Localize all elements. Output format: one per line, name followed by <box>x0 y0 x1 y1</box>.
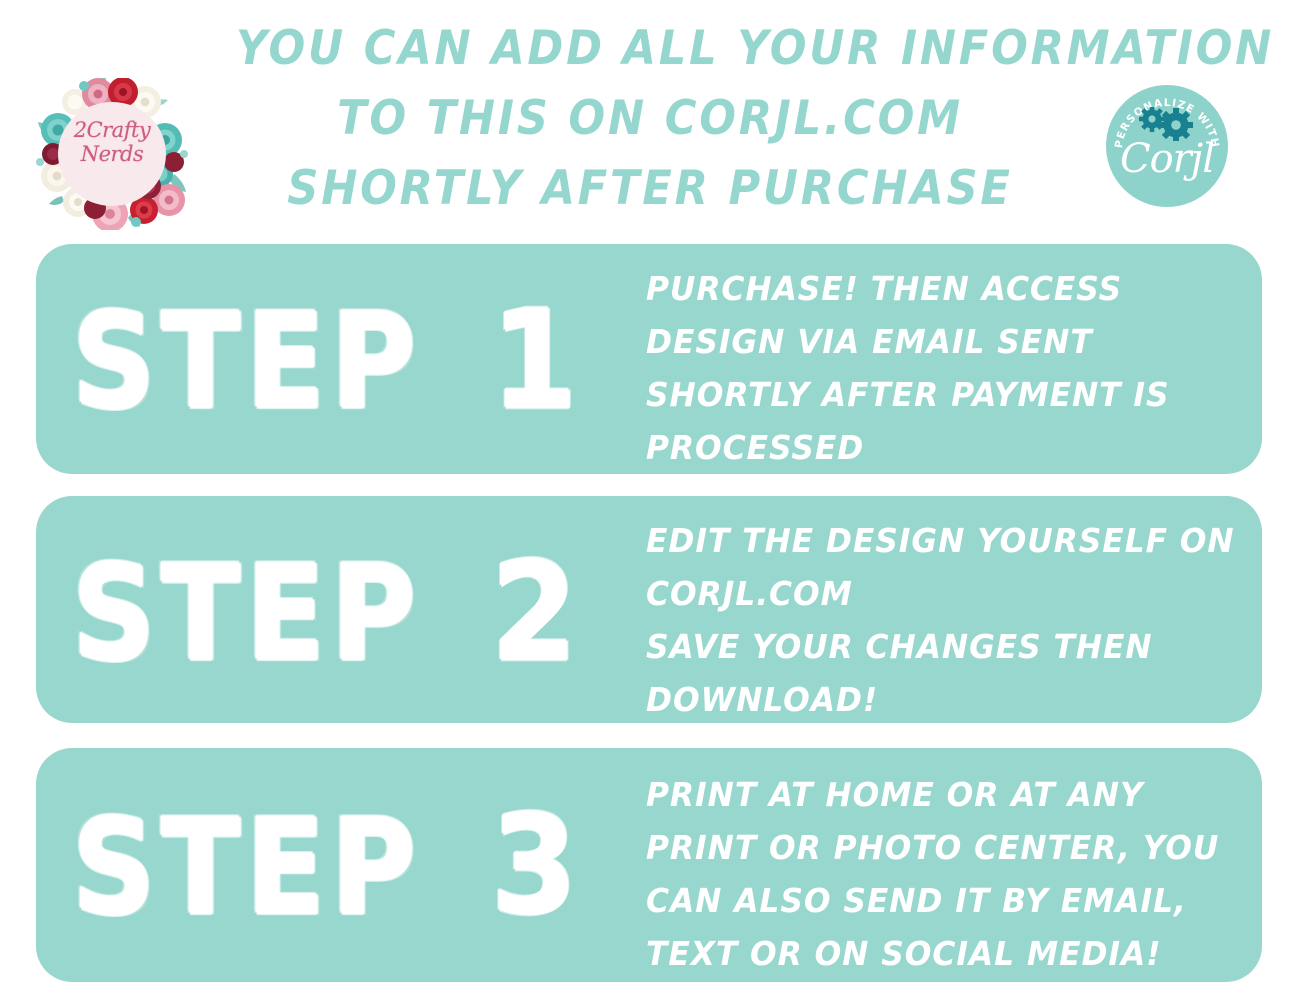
step-panel-1: STEP 1 PURCHASE! THEN ACCESS DESIGN VIA … <box>36 244 1262 474</box>
step-1-line-1: PURCHASE! THEN ACCESS <box>646 262 1254 315</box>
step-body-3: PRINT AT HOME OR AT ANY PRINT OR PHOTO C… <box>646 768 1286 980</box>
step-number-1: 1 <box>491 293 577 429</box>
step-2-line-3: SAVE YOUR CHANGES THEN <box>646 620 1254 673</box>
step-2-line-2: CORJL.COM <box>646 567 1254 620</box>
step-body-1: PURCHASE! THEN ACCESS DESIGN VIA EMAIL S… <box>646 262 1286 474</box>
step-1-line-3: SHORTLY AFTER PAYMENT IS <box>646 368 1254 421</box>
step-panel-3: STEP 3 PRINT AT HOME OR AT ANY PRINT OR … <box>36 748 1262 982</box>
step-1-line-2: DESIGN VIA EMAIL SENT <box>646 315 1254 368</box>
step-3-line-2: PRINT OR PHOTO CENTER, YOU <box>646 821 1254 874</box>
headline-line-1: YOU CAN ADD ALL YOUR INFORMATION <box>236 14 1064 84</box>
logo-line-2: Nerds <box>32 142 192 166</box>
step-1-line-4: PROCESSED <box>646 421 1254 474</box>
step-3-line-4: TEXT OR ON SOCIAL MEDIA! <box>646 927 1254 980</box>
header-banner: YOU CAN ADD ALL YOUR INFORMATION TO THIS… <box>0 0 1294 238</box>
step-number-2: 2 <box>491 545 577 681</box>
step-3-line-1: PRINT AT HOME OR AT ANY <box>646 768 1254 821</box>
step-2-line-4: DOWNLOAD! <box>646 673 1254 726</box>
step-panel-2: STEP 2 EDIT THE DESIGN YOURSELF ON CORJL… <box>36 496 1262 723</box>
logo-wordmark: 2Crafty Nerds <box>32 118 192 166</box>
brand-logo: 2Crafty Nerds <box>32 78 192 230</box>
step-label-1: STEP <box>72 295 421 427</box>
step-label-3: STEP <box>72 801 421 933</box>
step-body-2: EDIT THE DESIGN YOURSELF ON CORJL.COM SA… <box>646 514 1286 726</box>
corjl-badge: PERSONALIZE WITH <box>1106 85 1228 207</box>
step-3-line-3: CAN ALSO SEND IT BY EMAIL, <box>646 874 1254 927</box>
step-2-line-1: EDIT THE DESIGN YOURSELF ON <box>646 514 1254 567</box>
corjl-wordmark: Corjl <box>1106 137 1228 181</box>
logo-line-1: 2Crafty <box>32 118 192 142</box>
page-title: YOU CAN ADD ALL YOUR INFORMATION TO THIS… <box>200 14 1100 224</box>
step-number-3: 3 <box>491 798 577 934</box>
headline-line-3: SHORTLY AFTER PURCHASE <box>236 154 1064 224</box>
step-label-2: STEP <box>72 547 421 679</box>
headline-line-2: TO THIS ON CORJL.COM <box>236 84 1064 154</box>
